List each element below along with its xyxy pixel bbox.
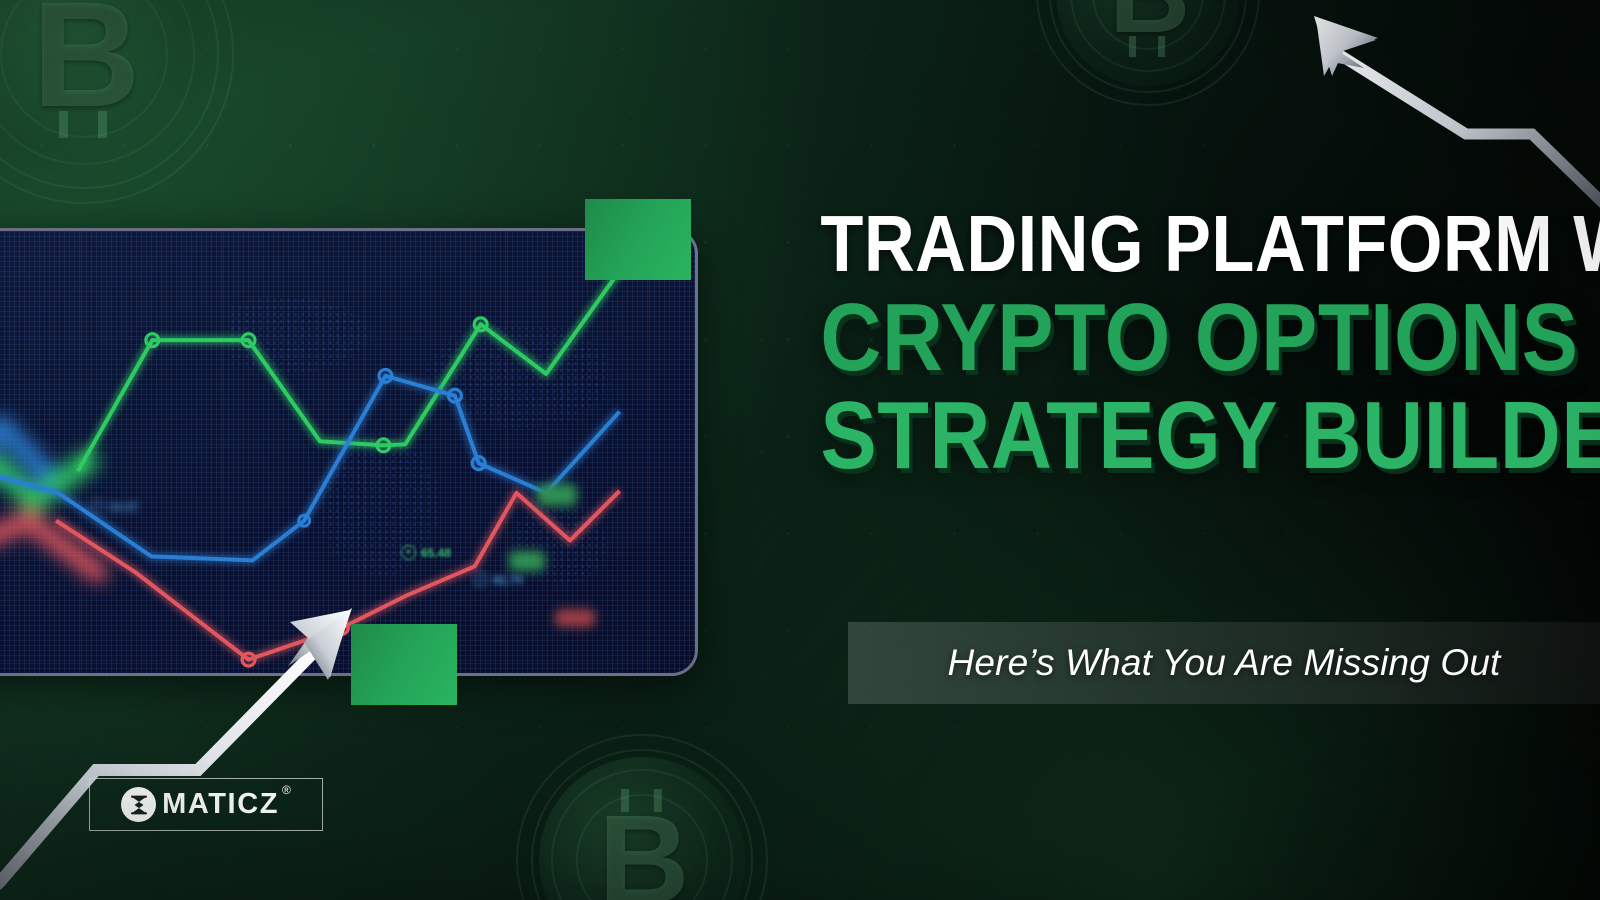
maticz-hourglass-z-icon: [121, 787, 156, 822]
bitcoin-symbol: B: [598, 807, 685, 900]
up-triangle-icon: ▲: [473, 572, 488, 587]
down-triangle-icon: ▼: [89, 499, 104, 514]
subtitle-bar: Here’s What You Are Missing Out: [848, 622, 1600, 704]
chart-label-4: ▲ 82.70: [473, 572, 523, 587]
ui-chip-blur-green-1: [537, 484, 577, 506]
bitcoin-symbol: B: [32, 0, 136, 117]
ui-chip-blur-red-1: [555, 609, 595, 627]
registered-trademark-symbol: ®: [282, 783, 291, 797]
bitcoin-symbol: B: [1109, 0, 1187, 41]
chart-label-3: ▼ 65.48: [401, 545, 451, 560]
chart-lines: [0, 231, 695, 673]
headline-line-2: CRYPTO OPTIONS: [820, 293, 1542, 383]
bitcoin-coin-top-left: B: [0, 0, 234, 204]
headline-line-3: STRATEGY BUILDER?: [820, 391, 1542, 481]
green-accent-square-bottom: [351, 624, 457, 705]
maticz-logo[interactable]: MATICZ ®: [89, 778, 323, 831]
headline-line-1: TRADING PLATFORM WITHOUT: [820, 206, 1542, 281]
bitcoin-coin-top-right: B: [1036, 0, 1260, 106]
chart-label-0: ▼ 54.97: [89, 499, 139, 514]
down-triangle-icon: ▼: [401, 545, 416, 560]
headline-block: TRADING PLATFORM WITHOUT CRYPTO OPTIONS …: [722, 206, 1542, 482]
subtitle-text: Here’s What You Are Missing Out: [948, 642, 1501, 684]
crypto-banner: B B B: [0, 0, 1600, 900]
chart-screen: ▼ 54.97 ▼ 31.52 ▲ 20.14 ▼ 65.48 ▲ 82.70 …: [0, 231, 695, 673]
maticz-wordmark: MATICZ: [162, 790, 279, 819]
green-accent-square-top: [585, 199, 691, 280]
ui-chip-blur-green-2: [509, 551, 545, 571]
trading-chart-device-mockup: ▼ 54.97 ▼ 31.52 ▲ 20.14 ▼ 65.48 ▲ 82.70 …: [0, 228, 698, 676]
bitcoin-coin-bottom-center: B: [516, 734, 768, 900]
